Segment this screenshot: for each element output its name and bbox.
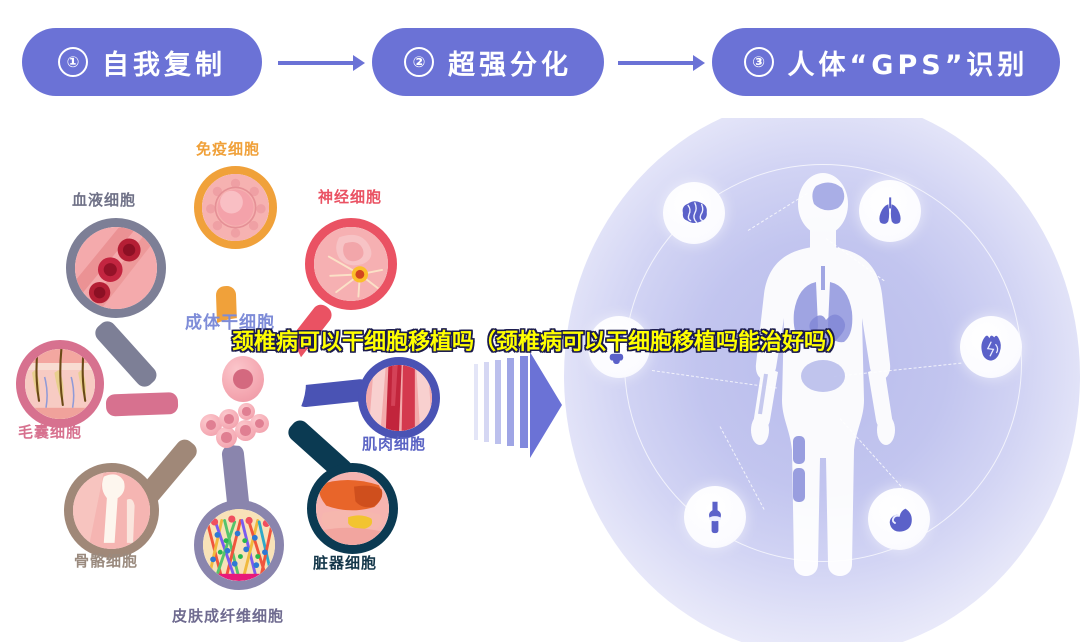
cell-label-follicle: 毛囊细胞 [18, 421, 82, 442]
step-label-1: 自我复制 [102, 43, 226, 82]
cell-label-organ: 脏器细胞 [313, 552, 377, 573]
cell-label-fibroblast: 皮肤成纤维细胞 [172, 605, 284, 626]
brain-icon [677, 196, 711, 230]
bone-cell-illustration [73, 472, 150, 549]
step-label-3: 人体“GPS”识别 [788, 43, 1029, 82]
step-number-3: ③ [744, 47, 774, 77]
organ-cell-illustration [316, 472, 389, 545]
blood-cell-illustration [75, 227, 157, 309]
stem-cell-nucleus [222, 356, 264, 402]
muscle-cell-illustration [366, 365, 432, 431]
cell-label-muscle: 肌肉细胞 [362, 433, 426, 454]
step-pill-1[interactable]: ① 自我复制 [22, 28, 262, 96]
kidney-icon [883, 503, 915, 535]
stem-cell-cluster-2 [216, 427, 237, 448]
organ-badge-brain[interactable] [663, 182, 725, 244]
step-pill-3[interactable]: ③ 人体“GPS”识别 [712, 28, 1060, 96]
step-pill-2[interactable]: ② 超强分化 [372, 28, 604, 96]
organ-badge-lungs[interactable] [859, 180, 921, 242]
transition-arrow [472, 352, 562, 458]
cell-circle-nerve [305, 218, 397, 310]
stem-cell-diagram: 血液细胞 免疫细胞 [0, 118, 545, 642]
step-arrow-2 [618, 61, 696, 65]
stem-cell-cluster-6 [238, 403, 255, 420]
process-steps: ① 自我复制 ② 超强分化 ③ 人体“GPS”识别 [0, 0, 1080, 120]
step-label-2: 超强分化 [448, 43, 572, 82]
immune-cell-illustration [202, 174, 269, 241]
step-number-2: ② [404, 47, 434, 77]
organ-badge-knee[interactable] [684, 486, 746, 548]
step-arrow-1 [278, 61, 356, 65]
fibroblast-illustration [203, 509, 275, 581]
cell-circle-bone [64, 463, 159, 558]
cell-label-blood: 血液细胞 [72, 189, 136, 210]
cell-label-immune: 免疫细胞 [196, 138, 260, 159]
cell-label-bone: 骨骼细胞 [74, 550, 138, 571]
lungs-icon [873, 194, 907, 228]
knee-joint-icon [700, 500, 730, 534]
cell-circle-blood [66, 218, 166, 318]
cell-circle-muscle [358, 357, 440, 439]
follicle-cell-illustration [25, 349, 95, 419]
cell-circle-immune [194, 166, 277, 249]
step-number-1: ① [58, 47, 88, 77]
cell-circle-organ [307, 463, 398, 554]
cell-circle-fibroblast [194, 500, 284, 590]
body-gps-panel [548, 118, 1080, 642]
stalk-follicle [106, 392, 179, 416]
infographic-root: ① 自我复制 ② 超强分化 ③ 人体“GPS”识别 血液细胞 [0, 0, 1080, 642]
overlay-caption: 颈椎病可以干细胞移植吗（颈椎病可以干细胞移植吗能治好吗） [0, 324, 1080, 356]
organ-badge-kidney[interactable] [868, 488, 930, 550]
nerve-cell-illustration [314, 227, 388, 301]
cell-label-nerve: 神经细胞 [318, 186, 382, 207]
